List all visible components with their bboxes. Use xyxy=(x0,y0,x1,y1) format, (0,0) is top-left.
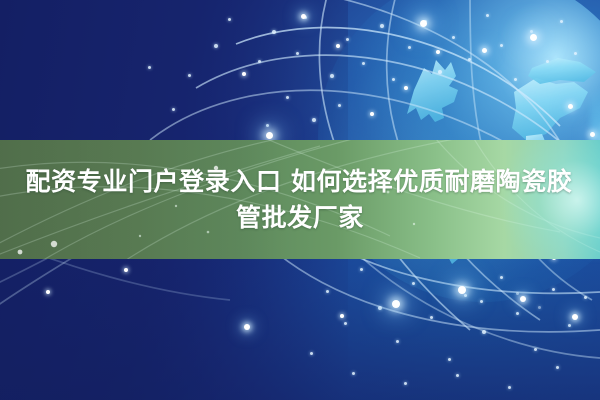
headline-line-1: 配资专业门户登录入口 如何选择优质耐磨陶瓷胶 xyxy=(26,165,575,199)
page-title: 配资专业门户登录入口 如何选择优质耐磨陶瓷胶 管批发厂家 xyxy=(0,140,600,259)
banner-image: 配资专业门户登录入口 如何选择优质耐磨陶瓷胶 管批发厂家 xyxy=(0,0,600,400)
headline-line-2: 管批发厂家 xyxy=(236,201,364,235)
